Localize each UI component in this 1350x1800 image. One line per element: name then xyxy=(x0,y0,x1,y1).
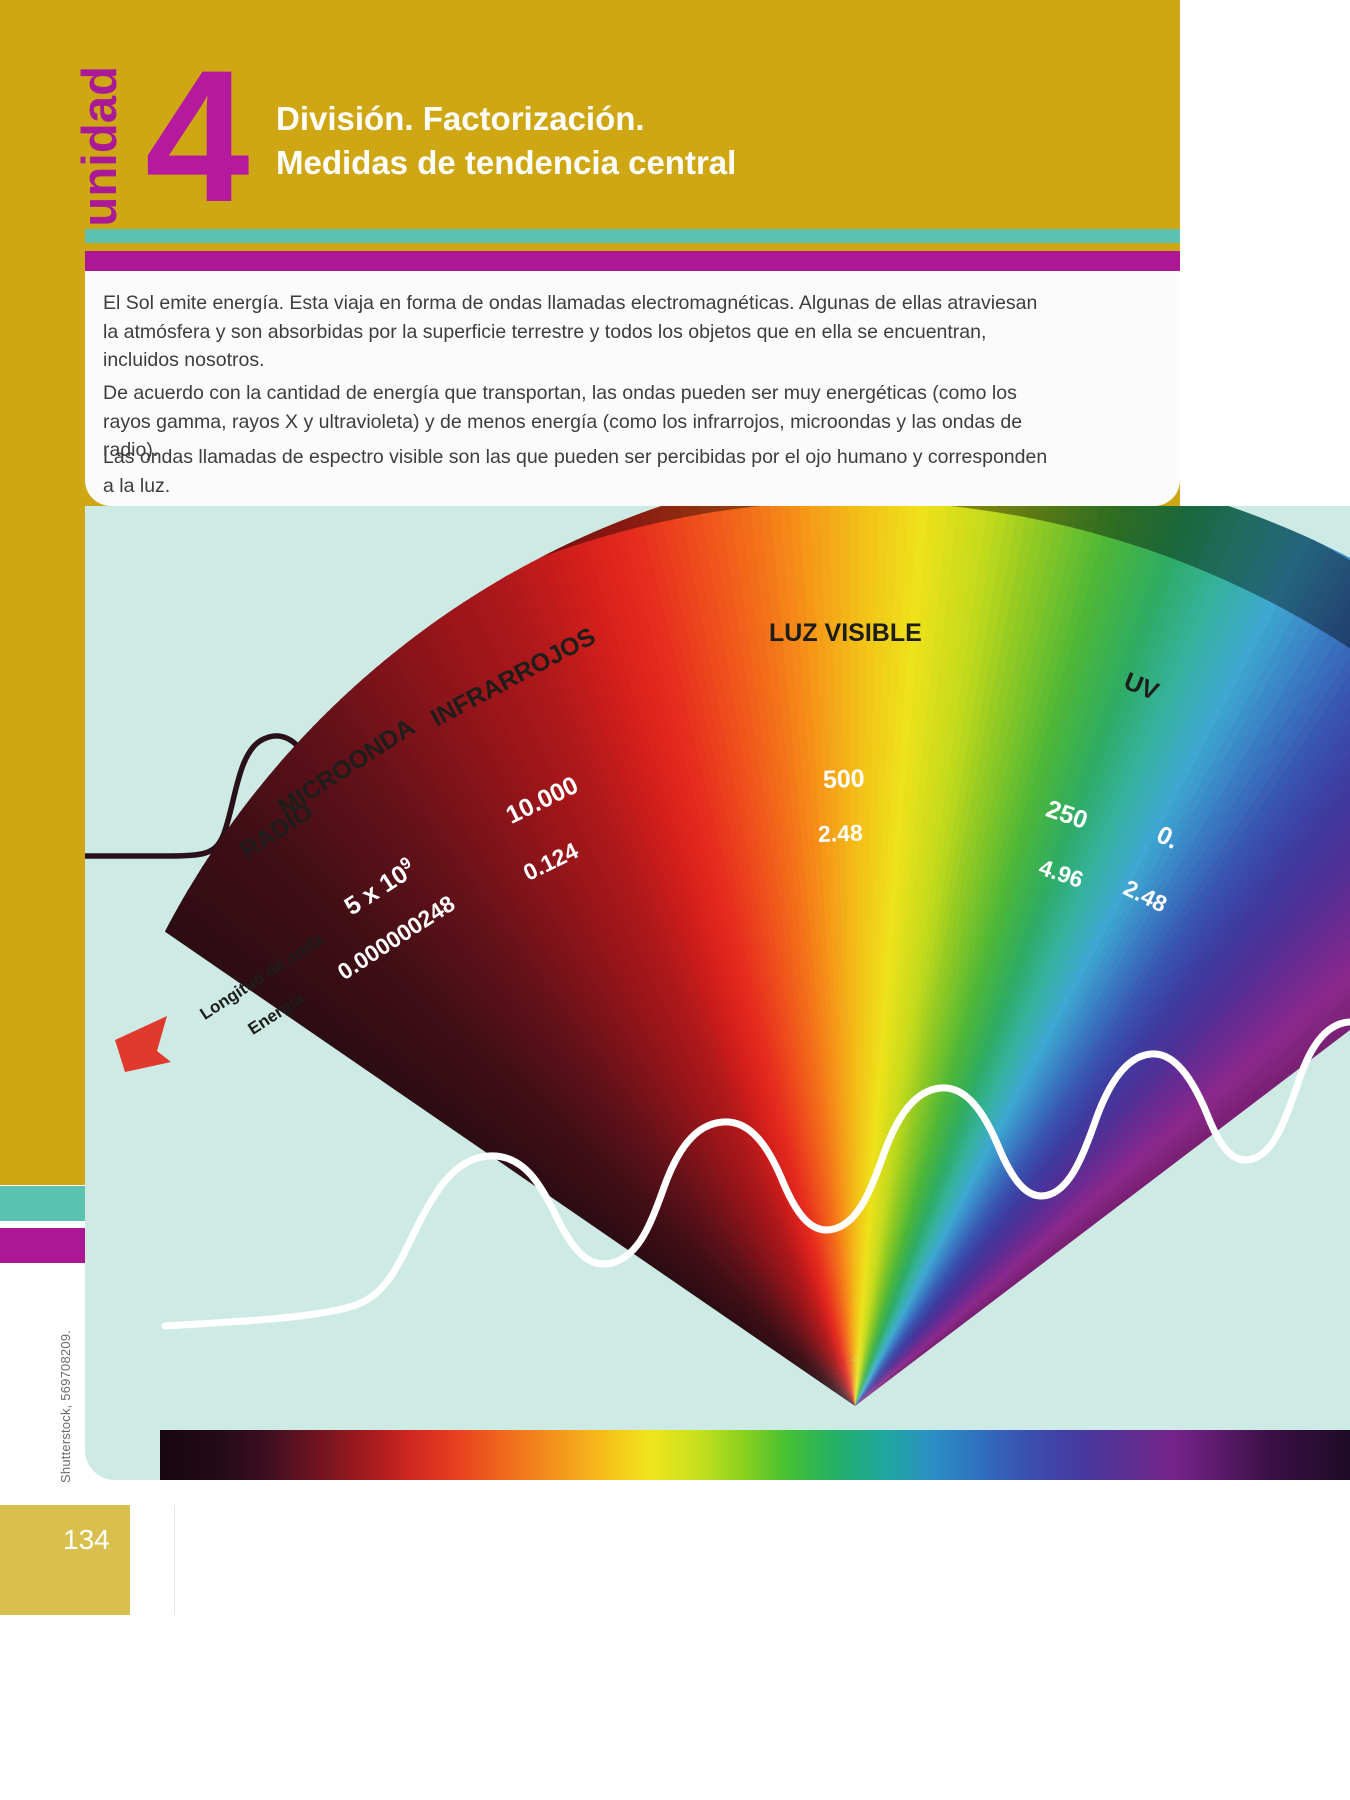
textbook-page: unidad 4 División. Factorización. Medida… xyxy=(0,0,1350,1800)
page-number-box xyxy=(0,1505,130,1615)
page-number: 134 xyxy=(63,1524,110,1556)
unit-number-label: 4 xyxy=(145,42,250,230)
rule-teal xyxy=(85,229,1180,243)
footer-divider xyxy=(174,1505,175,1615)
rule-magenta xyxy=(85,251,1180,271)
wl-label-2: 500 xyxy=(822,765,865,795)
page-title-line-1: División. Factorización. xyxy=(276,97,1136,141)
page-title-line-2: Medidas de tendencia central xyxy=(276,141,1136,185)
sidebar-tab-magenta xyxy=(0,1228,85,1263)
band-label-3: LUZ VISIBLE xyxy=(769,619,922,648)
page-title: División. Factorización. Medidas de tend… xyxy=(276,97,1136,184)
unit-word-label: unidad xyxy=(76,66,125,227)
sidebar-tab-teal xyxy=(0,1186,85,1221)
bottom-white-area xyxy=(0,1615,1350,1800)
energy-arrow-icon xyxy=(115,1016,171,1072)
bottom-spectrum-strip xyxy=(160,1430,1350,1480)
electromagnetic-spectrum-figure: RADIOMICROONDAINFRARROJOSLUZ VISIBLEUV L… xyxy=(85,506,1350,1480)
intro-paragraph-3: Las ondas llamadas de espectro visible s… xyxy=(103,443,1063,500)
spectrum-fan-graphic xyxy=(85,506,1350,1480)
rule-gold xyxy=(85,243,1180,251)
intro-paragraph-1: El Sol emite energía. Esta viaja en form… xyxy=(103,289,1055,375)
intro-text-card: El Sol emite energía. Esta viaja en form… xyxy=(85,271,1180,506)
image-credit: Shutterstock, 569708209. xyxy=(58,1330,73,1483)
en-label-2: 2.48 xyxy=(818,819,864,848)
